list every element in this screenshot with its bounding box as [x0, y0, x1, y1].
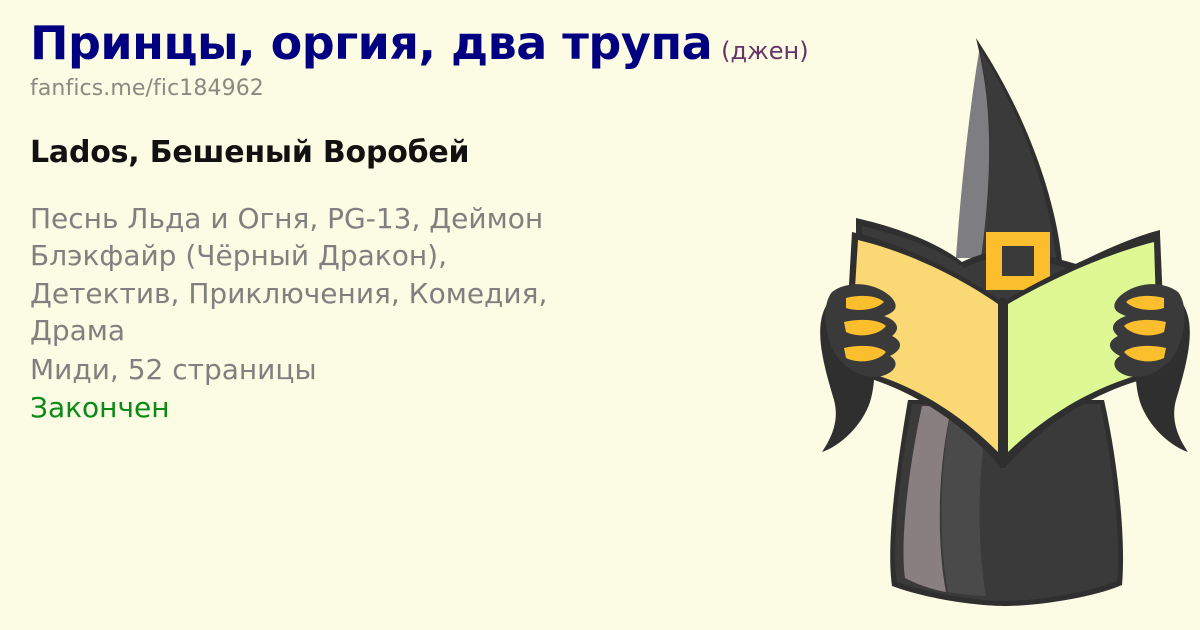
book-spine	[1000, 298, 1006, 468]
status-badge: Закончен	[30, 389, 830, 427]
left-nail-3	[844, 346, 886, 361]
book-right-outline	[1006, 234, 1166, 466]
book-left-page	[850, 240, 998, 452]
metadata-line-4: Драма	[30, 312, 800, 350]
metadata-line-2: Блэкфайр (Чёрный Дракон),	[30, 237, 800, 275]
hat-highlight	[956, 52, 989, 258]
left-hand	[825, 284, 900, 377]
hat-outline	[976, 38, 1062, 262]
illustration-container	[800, 0, 1200, 630]
source-url[interactable]: fanfics.me/fic184962	[30, 76, 830, 101]
metadata-line-1: Песнь Льда и Огня, PG-13, Деймон	[30, 200, 800, 238]
robe-body	[895, 404, 1118, 601]
hat-brim-fill	[862, 226, 1154, 324]
authors-line[interactable]: Lados, Бешеный Воробей	[30, 135, 830, 170]
right-nail-3	[1124, 346, 1166, 361]
left-nail-2	[844, 320, 886, 335]
wizard-reading-book-icon	[800, 0, 1200, 630]
right-nail-2	[1124, 320, 1166, 335]
text-column: Принцы, оргия, два трупа (джен) fanfics.…	[30, 18, 830, 427]
hat-buckle	[986, 232, 1050, 290]
robe-midtone	[942, 406, 990, 596]
title-category-label: (джен)	[721, 39, 808, 63]
size-label: Миди, 52 страницы	[30, 351, 830, 389]
hat-cone	[979, 48, 1056, 258]
robe-highlight	[904, 406, 952, 592]
book-right-page	[1008, 242, 1158, 452]
right-nail-1	[1126, 296, 1164, 310]
hat-brim	[856, 218, 1160, 330]
right-hand	[1110, 284, 1185, 377]
page-title: Принцы, оргия, два трупа	[30, 18, 712, 70]
right-sleeve	[1136, 300, 1190, 452]
social-preview-card: Принцы, оргия, два трупа (джен) fanfics.…	[0, 0, 1200, 630]
book-left-outline	[844, 232, 1000, 466]
metadata-line-3: Детектив, Приключения, Комедия,	[30, 275, 800, 313]
left-nail-1	[846, 296, 884, 310]
hat-buckle-hole	[1002, 246, 1034, 276]
robe-outline	[890, 400, 1123, 606]
metadata-block: Песнь Льда и Огня, PG-13, Деймон Блэкфай…	[30, 200, 800, 350]
title-row: Принцы, оргия, два трупа (джен)	[30, 18, 830, 70]
